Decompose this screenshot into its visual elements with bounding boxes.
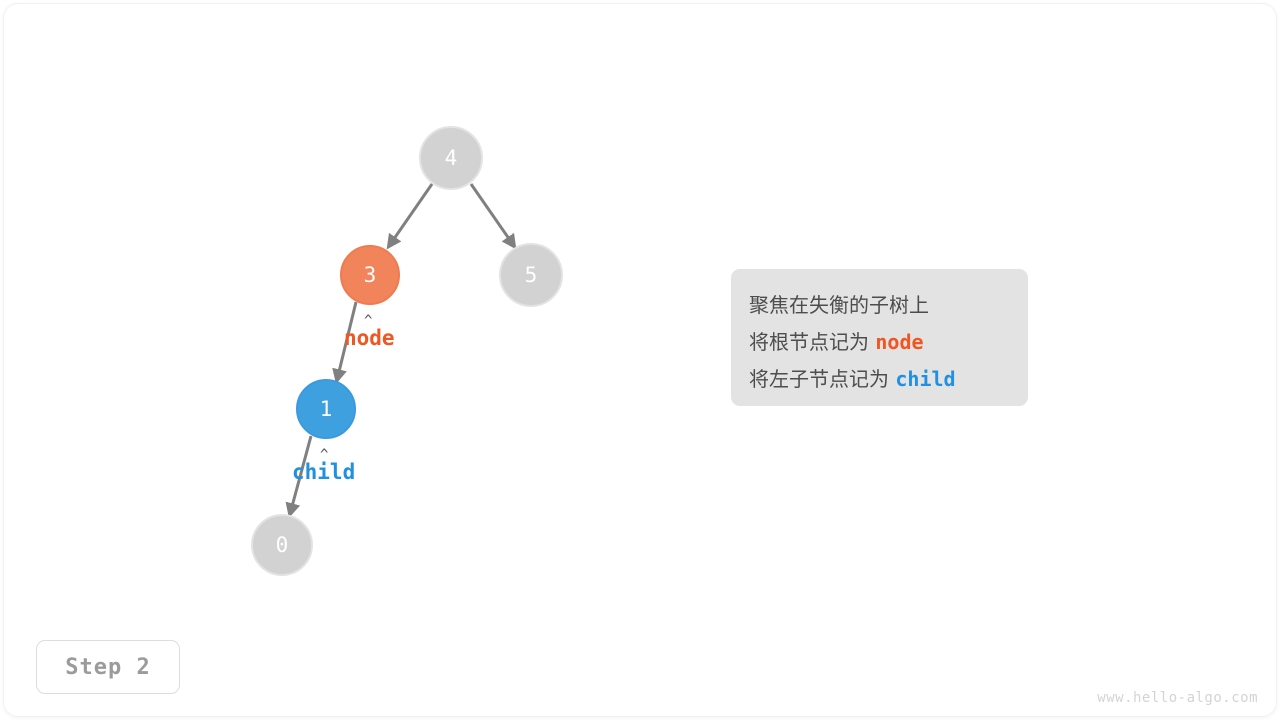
description-line-2-keyword: node xyxy=(875,330,923,354)
tree-node-3[interactable]: 3 xyxy=(340,245,400,305)
tree-node-4[interactable]: 4 xyxy=(419,126,483,190)
description-line-3-keyword: child xyxy=(895,367,955,391)
description-line-1: 聚焦在失衡的子树上 xyxy=(749,287,1028,324)
description-line-2-text: 将根节点记为 xyxy=(749,330,875,354)
tree-node-1[interactable]: 1 xyxy=(296,379,356,439)
tree-node-3-label: 3 xyxy=(364,263,377,287)
child-pointer-label: child xyxy=(292,460,355,484)
description-line-3: 将左子节点记为 child xyxy=(749,361,1028,398)
tree-node-1-label: 1 xyxy=(320,397,333,421)
tree-node-4-label: 4 xyxy=(445,146,458,170)
diagram-canvas: 4 3 5 1 0 ^ node ^ child 聚焦在失衡的子树上 将根节点记… xyxy=(0,0,1280,720)
description-line-1-text: 聚焦在失衡的子树上 xyxy=(749,293,929,317)
tree-node-5[interactable]: 5 xyxy=(499,243,563,307)
description-line-3-text: 将左子节点记为 xyxy=(749,367,895,391)
step-badge: Step 2 xyxy=(36,640,180,694)
tree-edges xyxy=(0,0,1280,720)
edge-4-3 xyxy=(389,184,432,246)
node-pointer-label: node xyxy=(344,326,395,350)
description-box: 聚焦在失衡的子树上 将根节点记为 node 将左子节点记为 child xyxy=(731,269,1028,406)
tree-node-0[interactable]: 0 xyxy=(251,514,313,576)
watermark: www.hello-algo.com xyxy=(1097,690,1258,706)
step-badge-label: Step 2 xyxy=(65,655,150,680)
tree-node-5-label: 5 xyxy=(525,263,538,287)
description-line-2: 将根节点记为 node xyxy=(749,324,1028,361)
edge-4-5 xyxy=(471,184,514,246)
tree-node-0-label: 0 xyxy=(276,533,289,557)
